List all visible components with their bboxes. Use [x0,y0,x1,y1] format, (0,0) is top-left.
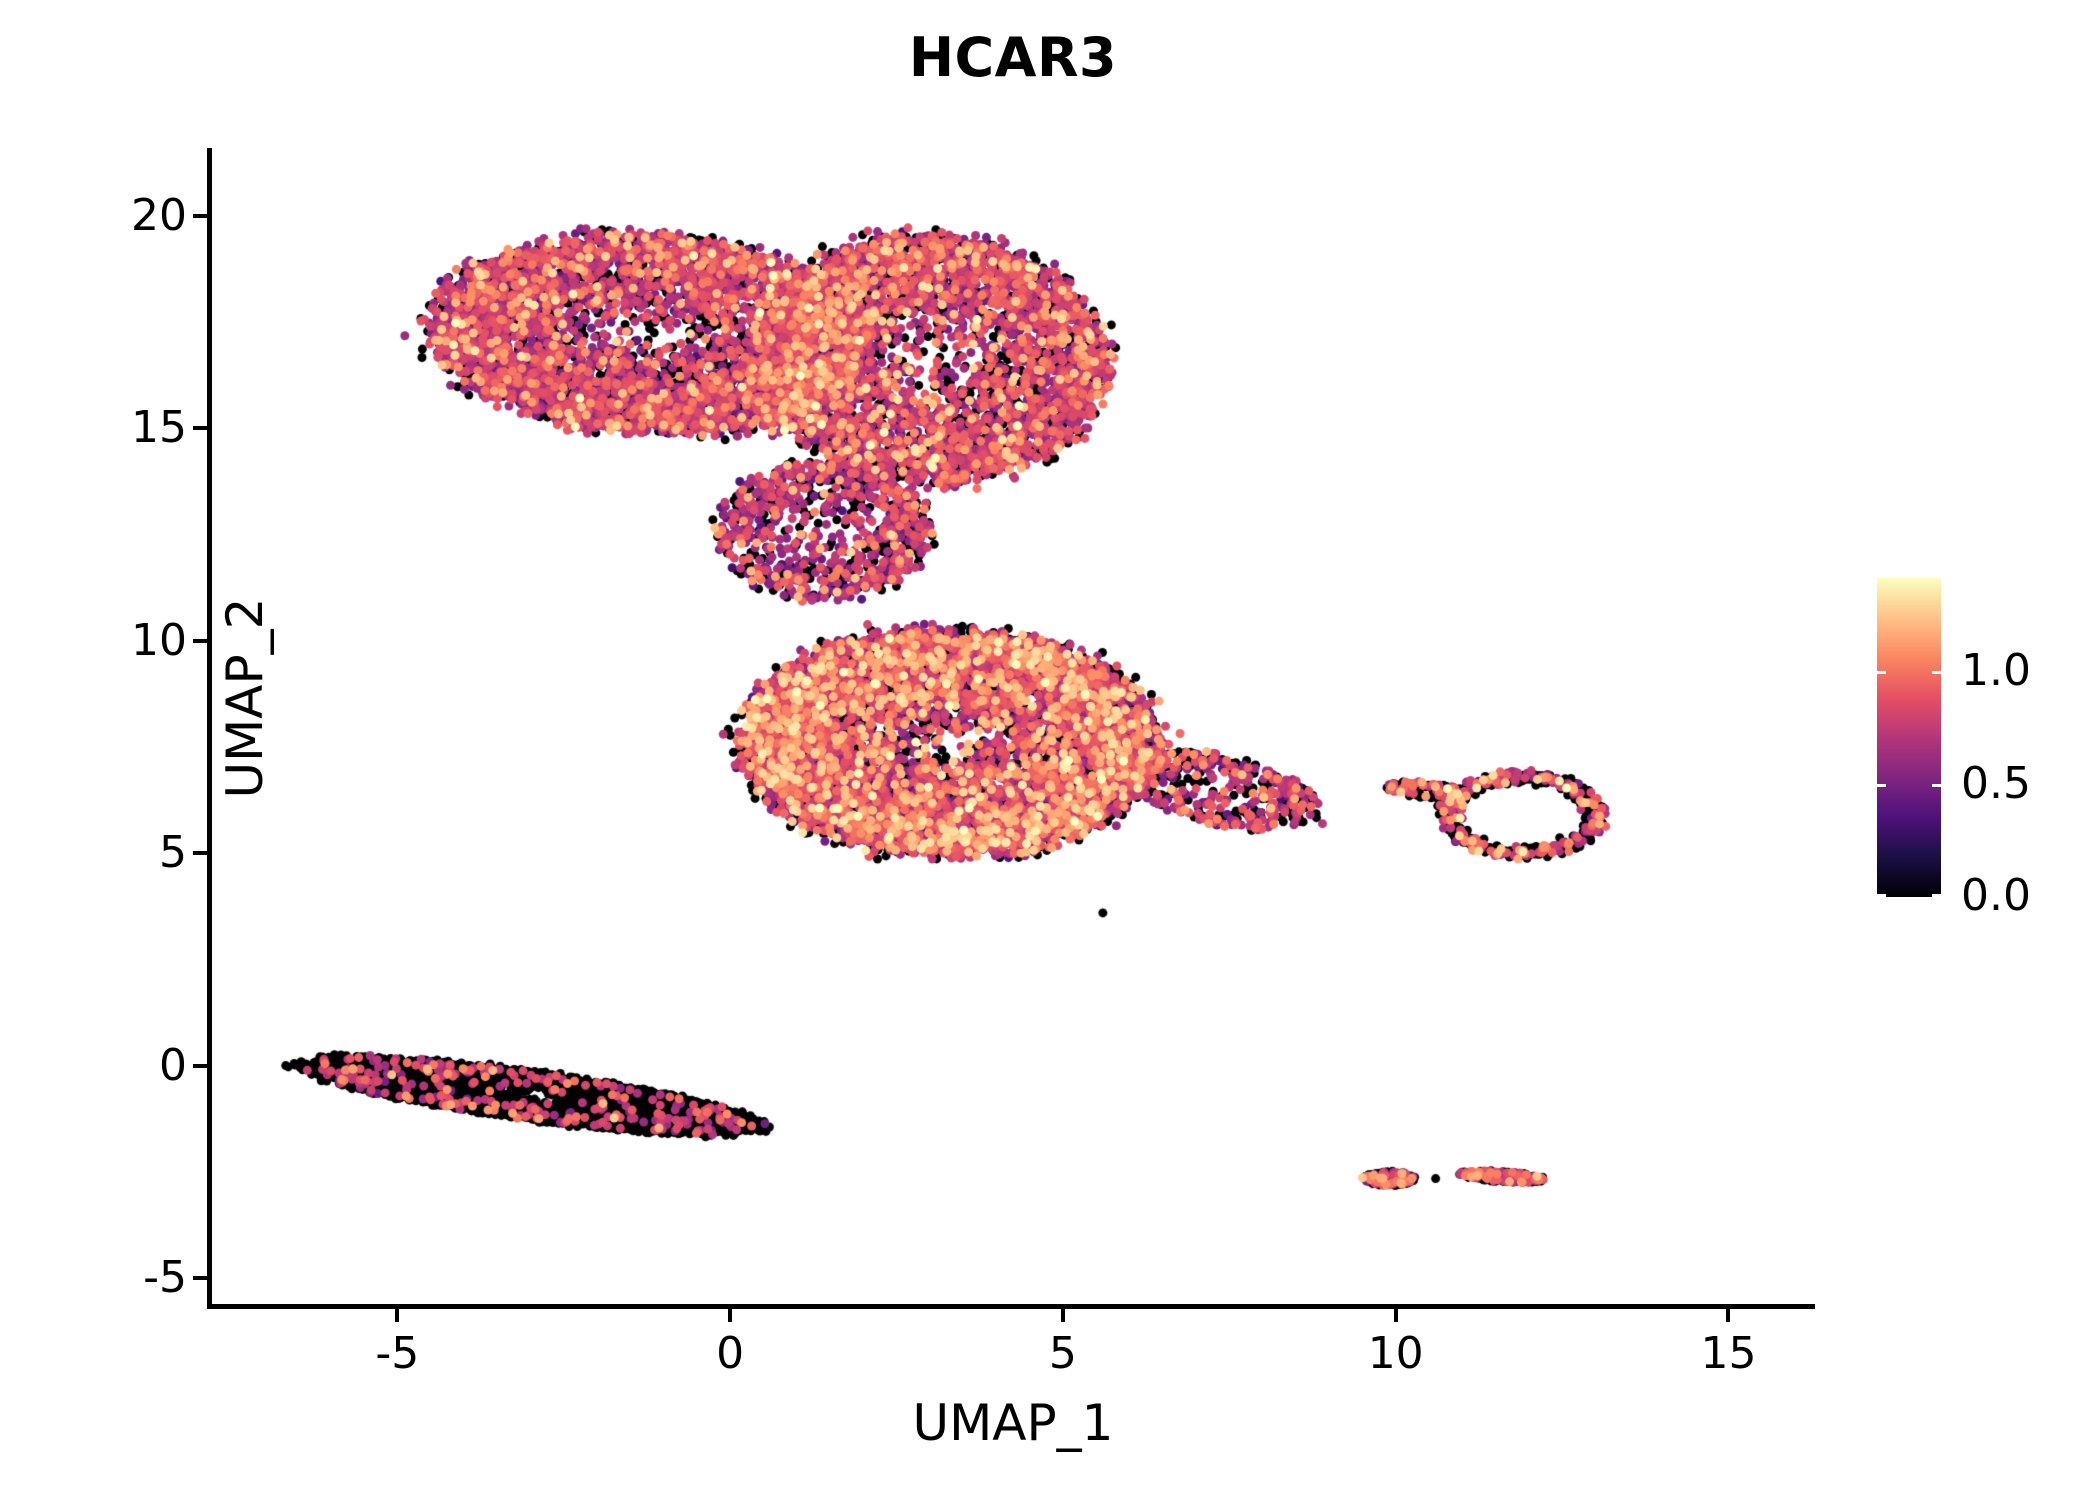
colorbar-tick-mark [1932,784,1941,787]
colorbar-tick-mark [1932,671,1941,674]
y-axis-spine [207,148,212,1305]
x-tick-label: 5 [983,1332,1143,1376]
x-axis-spine [207,1304,1815,1309]
colorbar-tick-label: 0.0 [1961,874,2031,918]
page-title: HCAR3 [211,26,1815,89]
x-tick-label: 10 [1316,1332,1476,1376]
x-tick-mark [1061,1308,1065,1322]
y-tick-label: 10 [131,619,187,663]
colorbar-tick-label: 1.0 [1961,649,2031,693]
x-tick-mark [395,1308,399,1322]
colorbar-tick-mark [1877,784,1886,787]
y-tick-label: 5 [159,831,187,875]
colorbar-tick-label: 0.5 [1961,762,2031,806]
plot-area: 20151050-5 -5051015 [211,152,1815,1304]
colorbar-tick-mark [1877,894,1886,897]
y-tick-mark [193,851,207,855]
scatter-plot [211,152,1815,1304]
colorbar-tick-mark [1932,894,1941,897]
y-tick-label: 15 [131,406,187,450]
y-tick-mark [193,426,207,430]
y-axis-label: UMAP_2 [216,122,274,1274]
y-tick-label: 20 [131,194,187,238]
x-tick-label: -5 [317,1332,477,1376]
y-tick-mark [193,1276,207,1280]
y-tick-mark [193,639,207,643]
x-axis-label: UMAP_1 [211,1394,1815,1452]
x-tick-label: 0 [650,1332,810,1376]
colorbar: 1.00.50.0 [1877,578,1941,897]
colorbar-tick-mark [1877,671,1886,674]
x-tick-mark [1394,1308,1398,1322]
x-tick-mark [728,1308,732,1322]
colorbar-gradient [1877,578,1941,897]
x-tick-label: 15 [1648,1332,1808,1376]
y-tick-label: 0 [159,1044,187,1088]
y-tick-mark [193,1064,207,1068]
y-tick-label: -5 [143,1256,187,1300]
figure-canvas: HCAR3 20151050-5 -5051015 UMAP_1 UMAP_2 … [0,0,2100,1500]
y-tick-mark [193,214,207,218]
x-tick-mark [1726,1308,1730,1322]
